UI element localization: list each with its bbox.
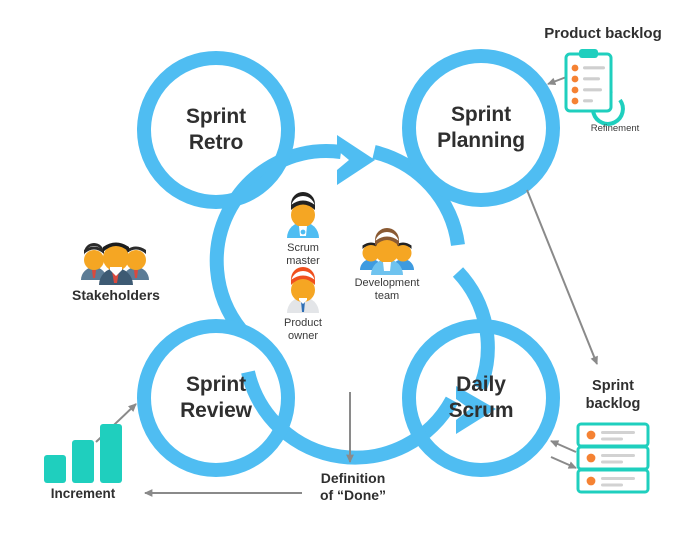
sprint-retro-ring[interactable] bbox=[144, 58, 288, 202]
arrow-planning-to-sprint-backlog bbox=[527, 190, 597, 364]
product-backlog-icon[interactable] bbox=[566, 49, 623, 124]
product-backlog-clip bbox=[579, 49, 598, 58]
dev-team-member-center bbox=[371, 228, 403, 275]
arrow-sprint-backlog-to-daily-scrum bbox=[551, 441, 576, 452]
scrum-diagram: Sprint Retro Sprint Planning Daily Scrum… bbox=[0, 0, 696, 540]
increment-icon[interactable] bbox=[44, 424, 122, 483]
increment-bar-2 bbox=[72, 440, 94, 483]
connector-arrows bbox=[96, 76, 597, 493]
scrum-master-icon[interactable] bbox=[287, 192, 319, 238]
sprint-backlog-icon[interactable] bbox=[578, 424, 648, 492]
stakeholders-icon[interactable] bbox=[81, 243, 149, 286]
diagram-canvas bbox=[0, 0, 696, 540]
sprint-review-ring[interactable] bbox=[144, 326, 288, 470]
increment-bar-1 bbox=[44, 455, 66, 483]
cycle-arrowhead-top bbox=[337, 135, 375, 185]
cycle-arrowhead-bottom bbox=[456, 386, 496, 434]
increment-bar-3 bbox=[100, 424, 122, 483]
product-owner-icon[interactable] bbox=[287, 267, 319, 313]
development-team-icon[interactable] bbox=[360, 228, 414, 275]
sprint-planning-ring[interactable] bbox=[409, 56, 553, 200]
cycle-arc-retro-to-planning bbox=[217, 151, 341, 330]
arrow-daily-scrum-to-sprint-backlog bbox=[551, 457, 576, 468]
